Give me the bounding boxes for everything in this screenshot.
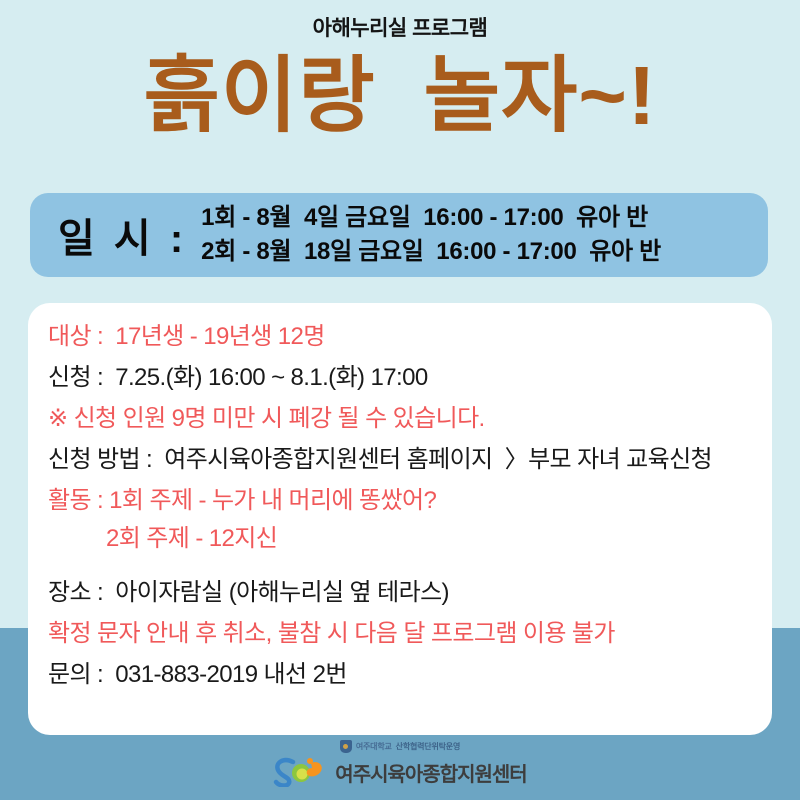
schedule-label: 일 시 :: [30, 206, 187, 264]
detail-location: 장소 : 아이자람실 (아해누리실 옆 테라스): [48, 581, 772, 605]
cooperation-note: 산학협력단위탁운영: [396, 741, 460, 752]
detail-contact: 문의 : 031-883-2019 내선 2번: [48, 663, 772, 687]
detail-target: 대상 : 17년생 - 19년생 12명: [48, 325, 772, 349]
scc-swirl-logo-icon: [273, 757, 327, 787]
poster-title: 흙이랑 놀자~!: [0, 52, 800, 139]
detail-cancellation: 확정 문자 안내 후 취소, 불참 시 다음 달 프로그램 이용 불가: [48, 622, 772, 646]
detail-activity-2: 2회 주제 - 12지신: [48, 527, 772, 551]
poster-kicker: 아해누리실 프로그램: [0, 12, 800, 42]
poster-footer: 여주대학교 산학협력단위탁운영 여주시육아종합지원센터: [0, 738, 800, 800]
detail-notice: ※ 신청 인원 9명 미만 시 폐강 될 수 있습니다.: [48, 407, 772, 431]
detail-activity-1: 활동 : 1회 주제 - 누가 내 머리에 똥쌌어?: [48, 489, 772, 513]
schedule-session-list: 1회 - 8월 4일 금요일 16:00 - 17:00 유아 반 2회 - 8…: [187, 202, 661, 269]
details-card: 대상 : 17년생 - 19년생 12명 신청 : 7.25.(화) 16:00…: [28, 303, 772, 735]
university-shield-icon: [340, 740, 352, 753]
center-name: 여주시육아종합지원센터: [335, 758, 526, 787]
footer-affiliation: 여주대학교 산학협력단위탁운영: [340, 738, 460, 754]
detail-how-to-apply: 신청 방법 : 여주시육아종합지원센터 홈페이지 〉부모 자녀 교육신청: [48, 448, 772, 472]
footer-brand: 여주시육아종합지원센터: [273, 757, 526, 787]
schedule-box: 일 시 : 1회 - 8월 4일 금요일 16:00 - 17:00 유아 반 …: [30, 193, 768, 277]
detail-application: 신청 : 7.25.(화) 16:00 ~ 8.1.(화) 17:00: [48, 366, 772, 390]
details-list: 대상 : 17년생 - 19년생 12명 신청 : 7.25.(화) 16:00…: [28, 303, 772, 687]
schedule-session-1: 1회 - 8월 4일 금요일 16:00 - 17:00 유아 반: [201, 202, 661, 234]
schedule-session-2: 2회 - 8월 18일 금요일 16:00 - 17:00 유아 반: [201, 236, 661, 268]
poster-root: 아해누리실 프로그램 흙이랑 놀자~! 일 시 : 1회 - 8월 4일 금요일…: [0, 0, 800, 800]
university-name: 여주대학교: [356, 741, 392, 752]
